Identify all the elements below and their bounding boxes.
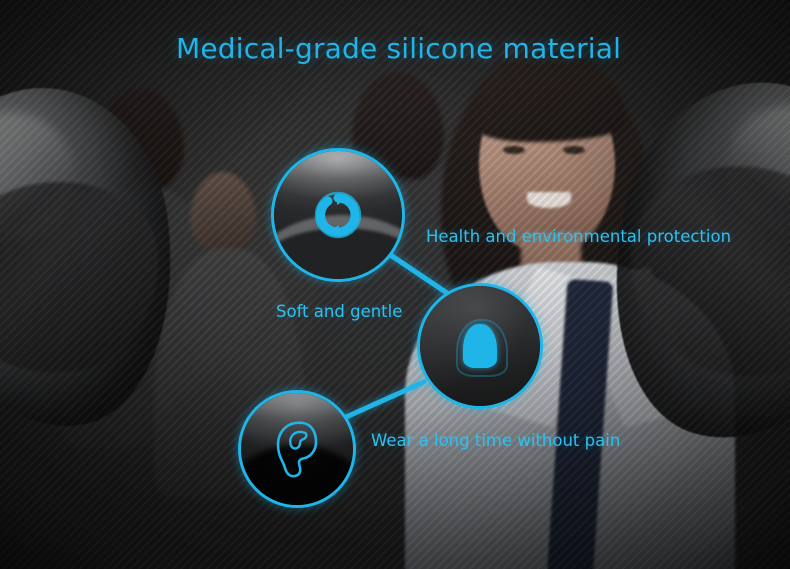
feature-label-soft: Soft and gentle	[276, 302, 402, 321]
product-feature-banner: Medical-grade silicone material	[0, 0, 790, 569]
feature-label-wear: Wear a long time without pain	[371, 431, 620, 450]
ear-tip-icon	[420, 286, 540, 406]
ear-icon	[241, 393, 353, 505]
recycle-icon	[274, 151, 402, 279]
callout-wear-long-time[interactable]	[238, 390, 356, 508]
callout-health-environmental[interactable]	[271, 148, 405, 282]
page-title: Medical-grade silicone material	[176, 32, 621, 65]
silicone-tip-shape	[463, 324, 497, 368]
background-vignette	[0, 0, 790, 569]
feature-label-health: Health and environmental protection	[426, 227, 731, 246]
callout-soft-and-gentle[interactable]	[417, 283, 543, 409]
